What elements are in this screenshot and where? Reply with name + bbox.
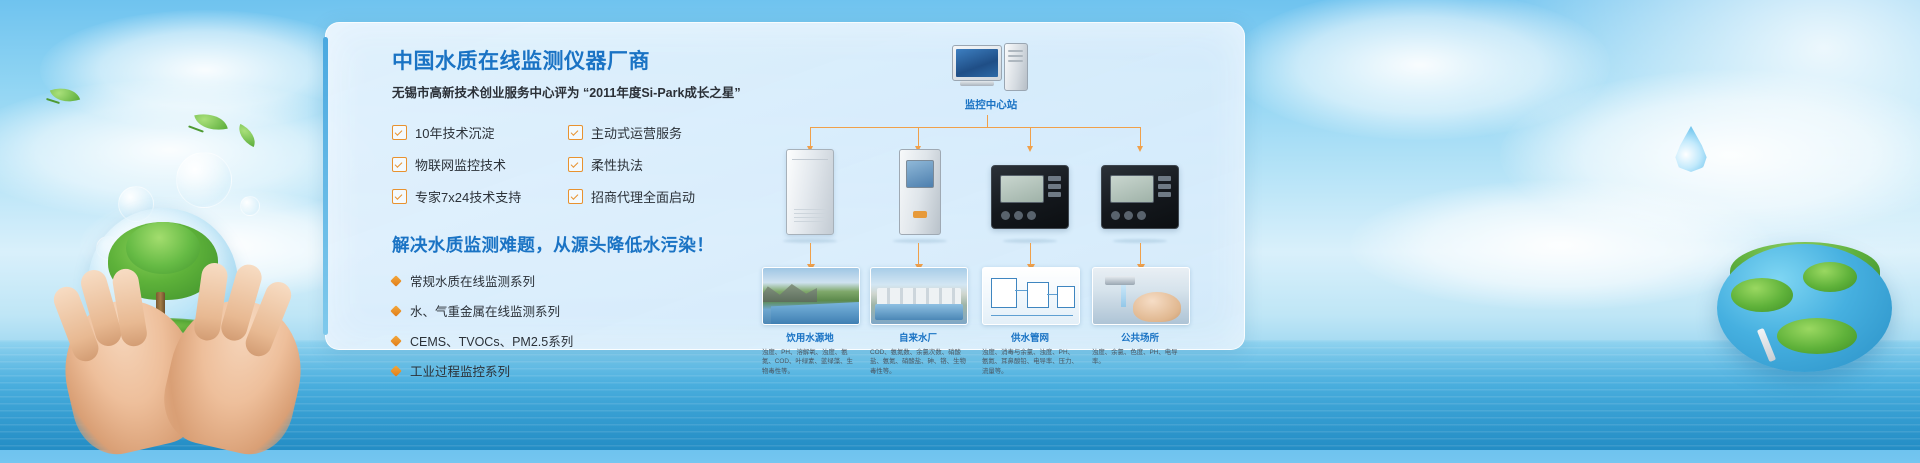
feature-grid: 10年技术沉淀 主动式运营服务 物联网监控技术 柔性执法 专家7x24技术支持 …	[392, 123, 792, 206]
scene-photo	[1092, 267, 1190, 325]
scene-photo	[762, 267, 860, 325]
earth-landmass	[1731, 278, 1793, 312]
checkbox-icon	[568, 157, 583, 172]
controller-icon	[991, 165, 1069, 229]
scene-photo	[870, 267, 968, 325]
diamond-bullet-icon	[390, 305, 401, 316]
controller-icon	[1101, 165, 1179, 229]
monitor-stand	[960, 81, 994, 86]
scene-description: 浊度、余氯、色度、PH、电导率。	[1092, 348, 1188, 367]
checkbox-icon	[568, 125, 583, 140]
feature-item-1: 10年技术沉淀	[392, 123, 562, 142]
scene-caption: 供水管网	[982, 330, 1078, 344]
checkbox-icon	[392, 189, 407, 204]
scene-description: 浊度、消毒与余氯、浊度、PH、氨氮、耳鼻酸铅、电导率、压力、流量等。	[982, 348, 1078, 376]
connector-drop	[810, 127, 811, 147]
checkbox-icon	[568, 189, 583, 204]
scene-caption: 自来水厂	[870, 330, 966, 344]
list-item[interactable]: 常规水质在线监测系列	[392, 271, 792, 290]
list-item[interactable]: CEMS、TVOCs、PM2.5系列	[392, 331, 792, 350]
cloud-1	[40, 10, 370, 130]
feature-item-5: 专家7x24技术支持	[392, 187, 562, 206]
scene-1[interactable]: 饮用水源地 浊度、PH、溶解氧、浊度、氨氮、COD、叶绿素、蓝绿藻、生物毒性等。	[762, 267, 858, 376]
analyzer-cabinet-icon	[899, 149, 941, 235]
leaf-stem	[188, 125, 204, 132]
feature-label: 柔性执法	[591, 155, 643, 174]
feature-label: 10年技术沉淀	[415, 123, 494, 142]
hero-panel: 中国水质在线监测仪器厂商 无锡市高新技术创业服务中心评为 “2011年度Si-P…	[325, 22, 1245, 350]
hands-holding-tree	[60, 160, 320, 450]
connector-drop	[918, 127, 919, 147]
device-1-cabinet	[768, 149, 852, 241]
scene-caption: 公共场所	[1092, 330, 1188, 344]
down-arrow-icon	[918, 243, 919, 265]
product-line-label: 常规水质在线监测系列	[410, 271, 535, 290]
monitor-icon	[952, 45, 1002, 81]
monitoring-center-computer	[952, 43, 1030, 91]
feature-item-2: 主动式运营服务	[568, 123, 792, 142]
scene-caption: 饮用水源地	[762, 330, 858, 344]
page-subtitle: 无锡市高新技术创业服务中心评为 “2011年度Si-Park成长之星”	[392, 85, 792, 101]
connector-drop	[1140, 127, 1141, 147]
list-item[interactable]: 水、气重金属在线监测系列	[392, 301, 792, 320]
connector-drop	[1030, 127, 1031, 147]
scene-photo	[982, 267, 1080, 325]
diamond-bullet-icon	[390, 335, 401, 346]
feature-label: 招商代理全面启动	[591, 187, 695, 206]
device-2-analyzer-cabinet	[878, 149, 962, 241]
scene-3[interactable]: 供水管网 浊度、消毒与余氯、浊度、PH、氨氮、耳鼻酸铅、电导率、压力、流量等。	[982, 267, 1078, 376]
system-diagram: 监控中心站	[766, 37, 1226, 345]
checkbox-icon	[392, 157, 407, 172]
product-line-label: CEMS、TVOCs、PM2.5系列	[410, 331, 573, 350]
section-title: 解决水质监测难题，从源头降低水污染！	[392, 232, 792, 257]
panel-accent-bar	[323, 37, 328, 335]
monitor-screen	[956, 49, 998, 77]
diamond-bullet-icon	[390, 275, 401, 286]
device-shadow	[893, 239, 947, 243]
scene-4[interactable]: 公共场所 浊度、余氯、色度、PH、电导率。	[1092, 267, 1188, 367]
product-line-list: 常规水质在线监测系列 水、气重金属在线监测系列 CEMS、TVOCs、PM2.5…	[392, 271, 792, 380]
page-title: 中国水质在线监测仪器厂商	[392, 49, 792, 74]
monitoring-center-label: 监控中心站	[916, 97, 1066, 112]
feature-label: 专家7x24技术支持	[415, 187, 521, 206]
cabinet-icon	[786, 149, 834, 235]
hero-text-column: 中国水质在线监测仪器厂商 无锡市高新技术创业服务中心评为 “2011年度Si-P…	[392, 49, 792, 380]
earth-globe	[1717, 244, 1892, 372]
down-arrow-icon	[810, 243, 811, 265]
connector-lines	[766, 115, 1226, 149]
feature-label: 物联网监控技术	[415, 155, 506, 174]
hand-under-tap	[1133, 292, 1181, 322]
earth-landmass	[1777, 318, 1857, 354]
product-line-label: 水、气重金属在线监测系列	[410, 301, 560, 320]
scene-2[interactable]: 自来水厂 COD、氨氮数、余氯次数、硝酸盐、氨氮、硝酸盐、砷、铬、生物毒性等。	[870, 267, 966, 376]
leaf-icon	[50, 82, 80, 107]
scene-description: 浊度、PH、溶解氧、浊度、氨氮、COD、叶绿素、蓝绿藻、生物毒性等。	[762, 348, 858, 376]
pc-tower-icon	[1004, 43, 1028, 91]
connector-horizontal	[810, 127, 1140, 128]
product-line-label: 工业过程监控系列	[410, 361, 510, 380]
down-arrow-icon	[1030, 243, 1031, 265]
connector-vertical-top	[987, 115, 988, 127]
feature-item-6: 招商代理全面启动	[568, 187, 792, 206]
checkbox-icon	[392, 125, 407, 140]
tree-canopy-top	[126, 222, 200, 274]
down-arrow-icon	[1140, 243, 1141, 265]
list-item[interactable]: 工业过程监控系列	[392, 361, 792, 380]
earth-landmass	[1803, 262, 1857, 292]
feature-item-3: 物联网监控技术	[392, 155, 562, 174]
diamond-bullet-icon	[390, 365, 401, 376]
leaf-icon	[234, 124, 260, 147]
scene-description: COD、氨氮数、余氯次数、硝酸盐、氨氮、硝酸盐、砷、铬、生物毒性等。	[870, 348, 966, 376]
feature-label: 主动式运营服务	[591, 123, 682, 142]
feature-item-4: 柔性执法	[568, 155, 792, 174]
